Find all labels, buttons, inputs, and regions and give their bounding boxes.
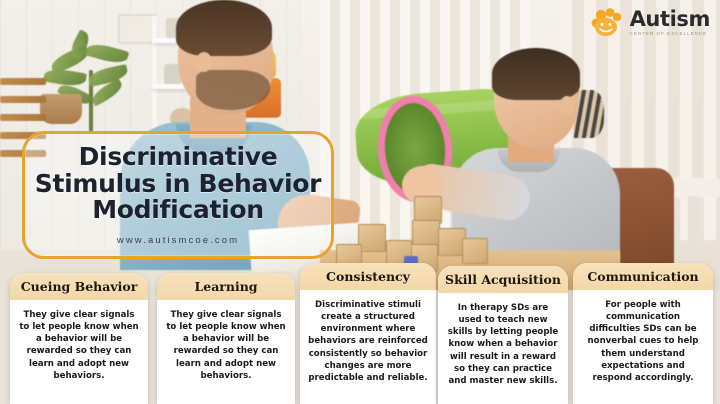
child-hair [492, 48, 580, 100]
wooden-block [462, 238, 488, 264]
card-title: Communication [577, 270, 709, 284]
card-header: Cueing Behavior [10, 273, 148, 300]
card-title: Learning [161, 280, 291, 294]
card-body: They give clear signals to let people kn… [10, 300, 148, 404]
card-header: Skill Acquisition [438, 266, 568, 293]
info-card-learning: Learning They give clear signals to let … [157, 273, 295, 404]
page-title: Discriminative Stimulus in Behavior Modi… [35, 144, 321, 224]
website-url[interactable]: www.autismcoe.com [117, 235, 239, 246]
adult-hair [176, 0, 272, 56]
title-panel: Discriminative Stimulus in Behavior Modi… [22, 131, 334, 259]
card-title: Consistency [304, 270, 432, 284]
card-header: Communication [573, 263, 713, 290]
child-ear [560, 96, 574, 114]
card-body: They give clear signals to let people kn… [157, 300, 295, 404]
info-card-consistency: Consistency Discriminative stimuli creat… [300, 263, 436, 404]
title-line-1: Discriminative [35, 144, 321, 171]
info-card-cueing-behavior: Cueing Behavior They give clear signals … [10, 273, 148, 404]
decor-fan [574, 90, 604, 138]
adult-ear [196, 52, 212, 72]
card-title: Skill Acquisition [442, 273, 564, 287]
card-body: Discriminative stimuli create a structur… [300, 290, 436, 404]
info-card-communication: Communication For people with communicat… [573, 263, 713, 404]
card-title: Cueing Behavior [14, 280, 144, 294]
card-header: Consistency [300, 263, 436, 290]
info-card-skill-acquisition: Skill Acquisition In therapy SDs are use… [438, 266, 568, 404]
card-body: In therapy SDs are used to teach new ski… [438, 293, 568, 404]
card-body: For people with communication difficulti… [573, 290, 713, 404]
title-line-3: Modification [35, 197, 321, 224]
title-line-2: Stimulus in Behavior [35, 171, 321, 198]
plant-pot [40, 94, 82, 124]
card-header: Learning [157, 273, 295, 300]
brand-logo[interactable]: Autism CENTER OF EXCELLENCE [591, 8, 710, 38]
infographic-poster: Autism CENTER OF EXCELLENCE Discriminati… [0, 0, 720, 404]
autism-puzzle-smiley-icon [591, 8, 625, 38]
side-table-leg [688, 196, 697, 266]
wooden-block [358, 224, 386, 252]
chair-slat [0, 96, 46, 103]
brand-tagline: CENTER OF EXCELLENCE [630, 32, 710, 36]
brand-name: Autism [630, 9, 710, 30]
chair-slat [0, 114, 46, 121]
plant-leaf [85, 41, 130, 67]
chair-slat [0, 78, 46, 85]
